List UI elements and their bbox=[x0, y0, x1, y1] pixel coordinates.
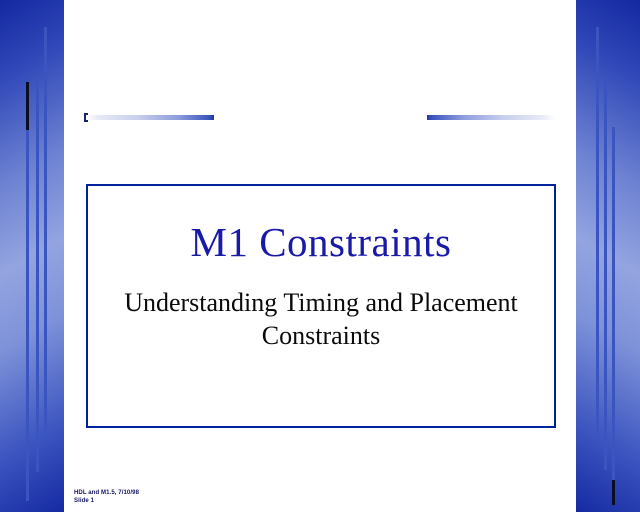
presentation-slide: M1 Constraints Understanding Timing and … bbox=[0, 0, 640, 512]
footer-course-and-date: HDL and M1.5, 7/10/98 bbox=[74, 489, 139, 497]
right-pinstripe-3 bbox=[612, 127, 615, 502]
slide-subtitle: Understanding Timing and Placement Const… bbox=[112, 286, 530, 353]
title-content-frame: M1 Constraints Understanding Timing and … bbox=[86, 184, 556, 428]
right-pinstripe-dark-accent bbox=[612, 480, 615, 505]
left-pinstripe-2 bbox=[36, 80, 39, 472]
left-gradient-band bbox=[0, 0, 64, 512]
slide-footer: HDL and M1.5, 7/10/98 Slide 1 bbox=[74, 489, 139, 505]
right-pinstripe-2 bbox=[604, 80, 607, 470]
right-pinstripe-1 bbox=[596, 27, 599, 439]
left-pinstripe-3 bbox=[44, 27, 47, 440]
top-rule-left bbox=[86, 115, 214, 120]
right-gradient-band bbox=[576, 0, 640, 512]
slide-title: M1 Constraints bbox=[88, 222, 554, 263]
footer-slide-number: Slide 1 bbox=[74, 497, 139, 505]
left-pinstripe-1 bbox=[26, 130, 29, 501]
top-rule-right bbox=[427, 115, 555, 120]
